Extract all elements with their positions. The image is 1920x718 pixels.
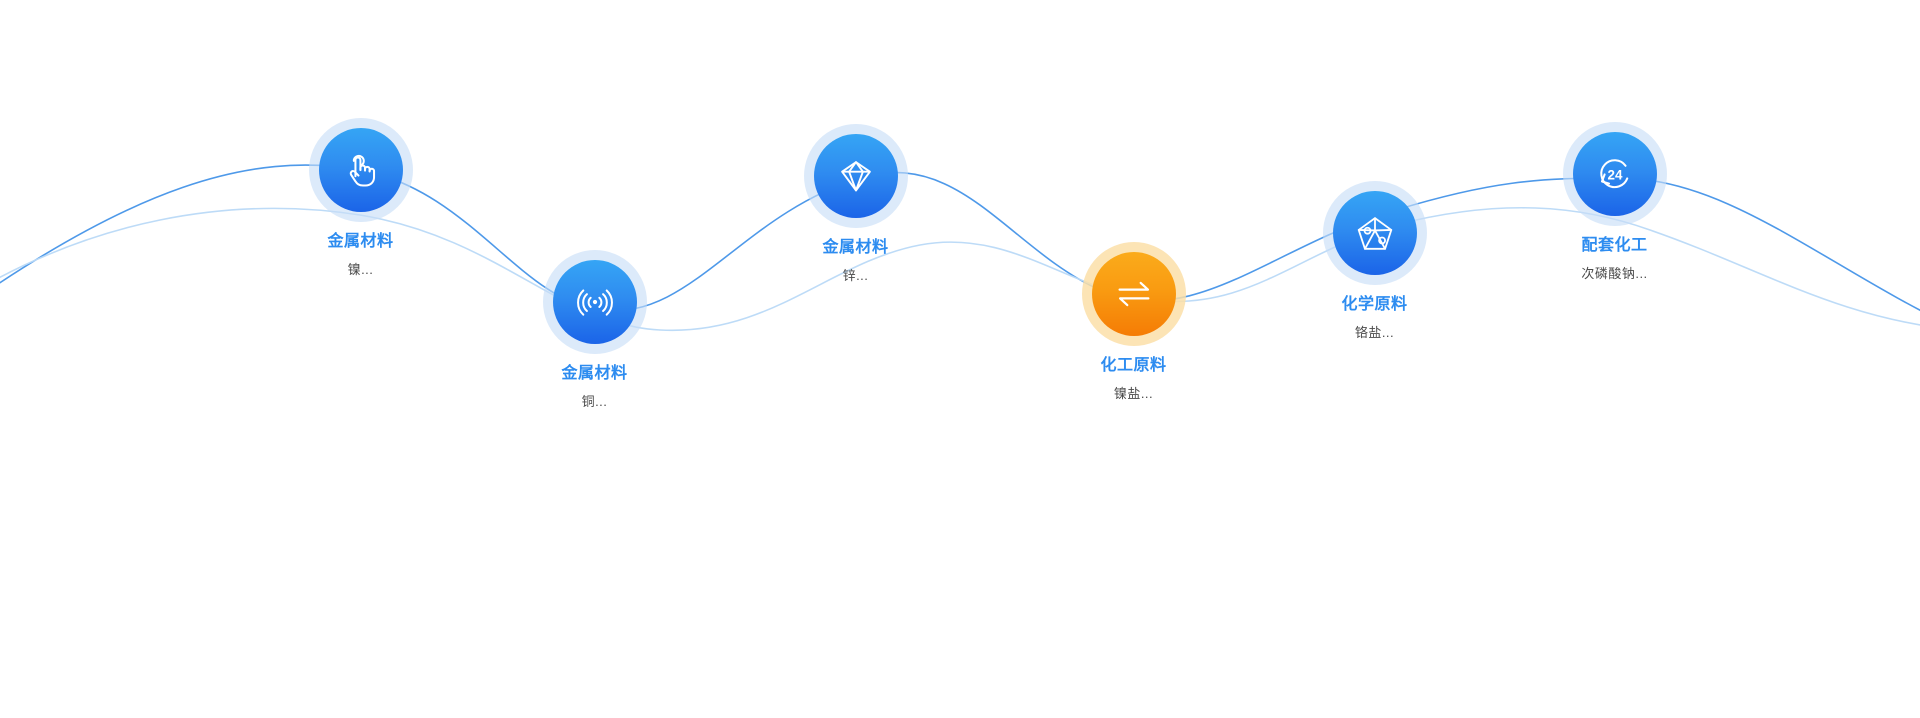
chain-node[interactable]: 金属材料镍... bbox=[360, 170, 361, 171]
node-subtitle: 次磷酸钠... bbox=[1581, 265, 1647, 283]
node-subtitle: 铬盐... bbox=[1341, 324, 1407, 342]
node-labels: 化学原料铬盐... bbox=[1341, 295, 1407, 342]
hand-click-icon bbox=[338, 147, 384, 193]
node-title[interactable]: 金属材料 bbox=[561, 364, 627, 384]
node-disc[interactable] bbox=[1092, 252, 1176, 336]
node-subtitle: 镍盐... bbox=[1100, 385, 1166, 403]
chain-node[interactable]: 24配套化工次磷酸钠... bbox=[1614, 174, 1615, 175]
twentyfour-hour-icon: 24 bbox=[1592, 151, 1638, 197]
node-labels: 配套化工次磷酸钠... bbox=[1581, 236, 1647, 283]
node-disc[interactable] bbox=[319, 128, 403, 212]
connector-curves bbox=[0, 0, 1920, 718]
chain-node[interactable]: 化工原料镍盐... bbox=[1133, 294, 1134, 295]
exchange-arrows-icon bbox=[1111, 271, 1157, 317]
molecule-pentagon-icon bbox=[1352, 210, 1398, 256]
node-circle[interactable] bbox=[309, 118, 413, 222]
node-disc[interactable] bbox=[553, 260, 637, 344]
node-title[interactable]: 配套化工 bbox=[1581, 236, 1647, 256]
node-title[interactable]: 化学原料 bbox=[1341, 295, 1407, 315]
chain-node[interactable]: 化学原料铬盐... bbox=[1374, 233, 1375, 234]
node-labels: 金属材料锌... bbox=[822, 238, 888, 285]
node-title[interactable]: 化工原料 bbox=[1100, 356, 1166, 376]
node-circle[interactable]: 24 bbox=[1563, 122, 1667, 226]
node-subtitle: 锌... bbox=[822, 267, 888, 285]
node-subtitle: 铜... bbox=[561, 393, 627, 411]
chain-node[interactable]: 金属材料锌... bbox=[855, 176, 856, 177]
node-circle[interactable] bbox=[543, 250, 647, 354]
node-labels: 化工原料镍盐... bbox=[1100, 356, 1166, 403]
node-disc[interactable]: 24 bbox=[1573, 132, 1657, 216]
node-disc[interactable] bbox=[814, 134, 898, 218]
node-title[interactable]: 金属材料 bbox=[822, 238, 888, 258]
diamond-icon bbox=[833, 153, 879, 199]
node-labels: 金属材料铜... bbox=[561, 364, 627, 411]
svg-text:24: 24 bbox=[1607, 167, 1622, 182]
industry-chain-diagram: 金属材料镍...金属材料铜...金属材料锌...化工原料镍盐...化学原料铬盐.… bbox=[0, 0, 1920, 718]
node-circle[interactable] bbox=[1323, 181, 1427, 285]
node-circle[interactable] bbox=[1082, 242, 1186, 346]
node-labels: 金属材料镍... bbox=[327, 232, 393, 279]
node-circle[interactable] bbox=[804, 124, 908, 228]
chain-node[interactable]: 金属材料铜... bbox=[594, 302, 595, 303]
node-title[interactable]: 金属材料 bbox=[327, 232, 393, 252]
signal-radar-icon bbox=[572, 279, 618, 325]
node-disc[interactable] bbox=[1333, 191, 1417, 275]
node-subtitle: 镍... bbox=[327, 261, 393, 279]
